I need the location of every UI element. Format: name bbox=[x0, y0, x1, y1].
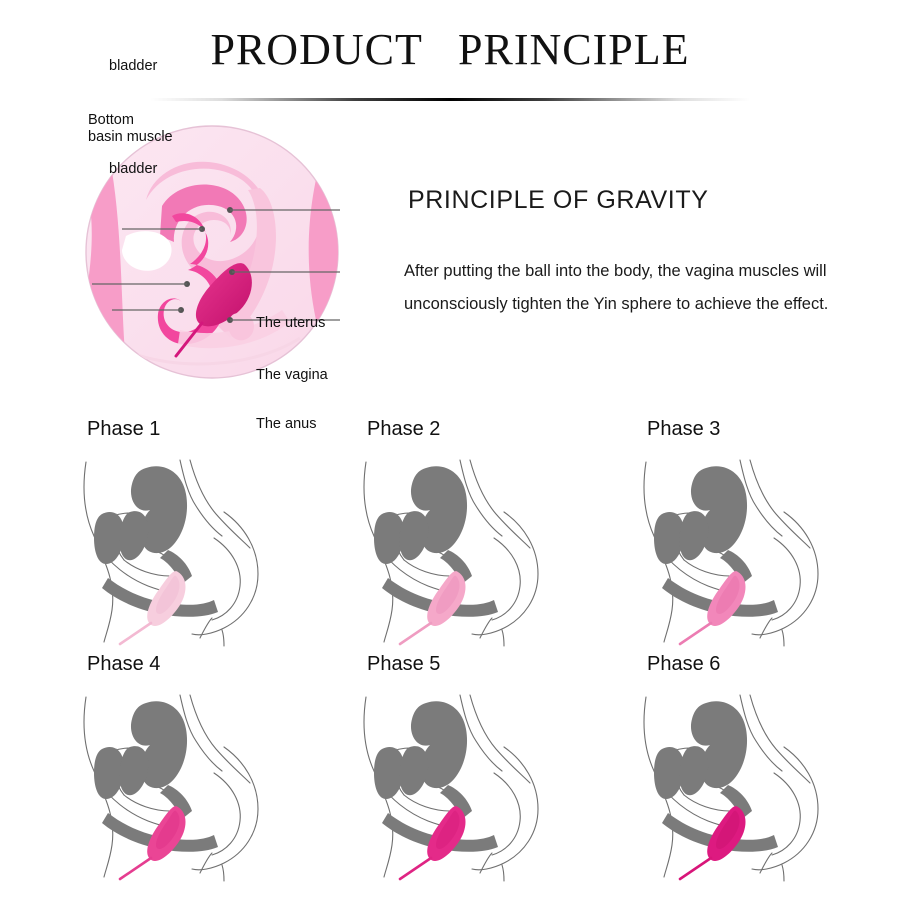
label-bladder-upper: bladder bbox=[109, 58, 157, 74]
phase-cell: Phase 2 bbox=[340, 418, 620, 653]
label-bottom-line: Bottom bbox=[88, 112, 134, 128]
phase-label: Phase 4 bbox=[87, 653, 160, 676]
label-bottom-basin-muscle: Bottom basin muscle bbox=[88, 112, 173, 146]
phase-illustration bbox=[352, 452, 602, 647]
kegel-ball bbox=[400, 806, 466, 879]
label-the-vagina: The vagina bbox=[256, 367, 328, 383]
principle-heading: PRINCIPLE OF GRAVITY bbox=[408, 186, 708, 215]
label-the-uterus: The uterus bbox=[256, 315, 325, 331]
phase-cell: Phase 4 bbox=[60, 653, 340, 888]
phase-illustration bbox=[72, 452, 322, 647]
anatomy-diagram: The uterus The vagina The anus bladder B… bbox=[84, 124, 340, 380]
kegel-ball bbox=[680, 806, 746, 879]
right-body-band bbox=[309, 134, 340, 380]
anus-lobe bbox=[228, 313, 254, 341]
phase-cell: Phase 6 bbox=[620, 653, 900, 888]
kegel-ball bbox=[680, 571, 746, 644]
title-divider bbox=[150, 98, 750, 101]
phase-cell: Phase 5 bbox=[340, 653, 620, 888]
phase-illustration bbox=[72, 687, 322, 882]
phase-grid: Phase 1 bbox=[60, 418, 900, 888]
principle-body: After putting the ball into the body, th… bbox=[404, 255, 874, 321]
phase-label: Phase 5 bbox=[367, 653, 440, 676]
phase-label: Phase 3 bbox=[647, 418, 720, 441]
kegel-ball bbox=[120, 571, 186, 644]
phase-label: Phase 2 bbox=[367, 418, 440, 441]
phase-cell: Phase 1 bbox=[60, 418, 340, 653]
kegel-ball bbox=[400, 571, 466, 644]
phase-illustration bbox=[352, 687, 602, 882]
phase-illustration bbox=[632, 452, 882, 647]
phase-cell: Phase 3 bbox=[620, 418, 900, 653]
phase-label: Phase 6 bbox=[647, 653, 720, 676]
phase-illustration bbox=[632, 687, 882, 882]
label-basin-muscle-line: basin muscle bbox=[88, 129, 173, 145]
phase-label: Phase 1 bbox=[87, 418, 160, 441]
kegel-ball bbox=[120, 806, 186, 879]
label-bladder-lower: bladder bbox=[109, 161, 157, 177]
